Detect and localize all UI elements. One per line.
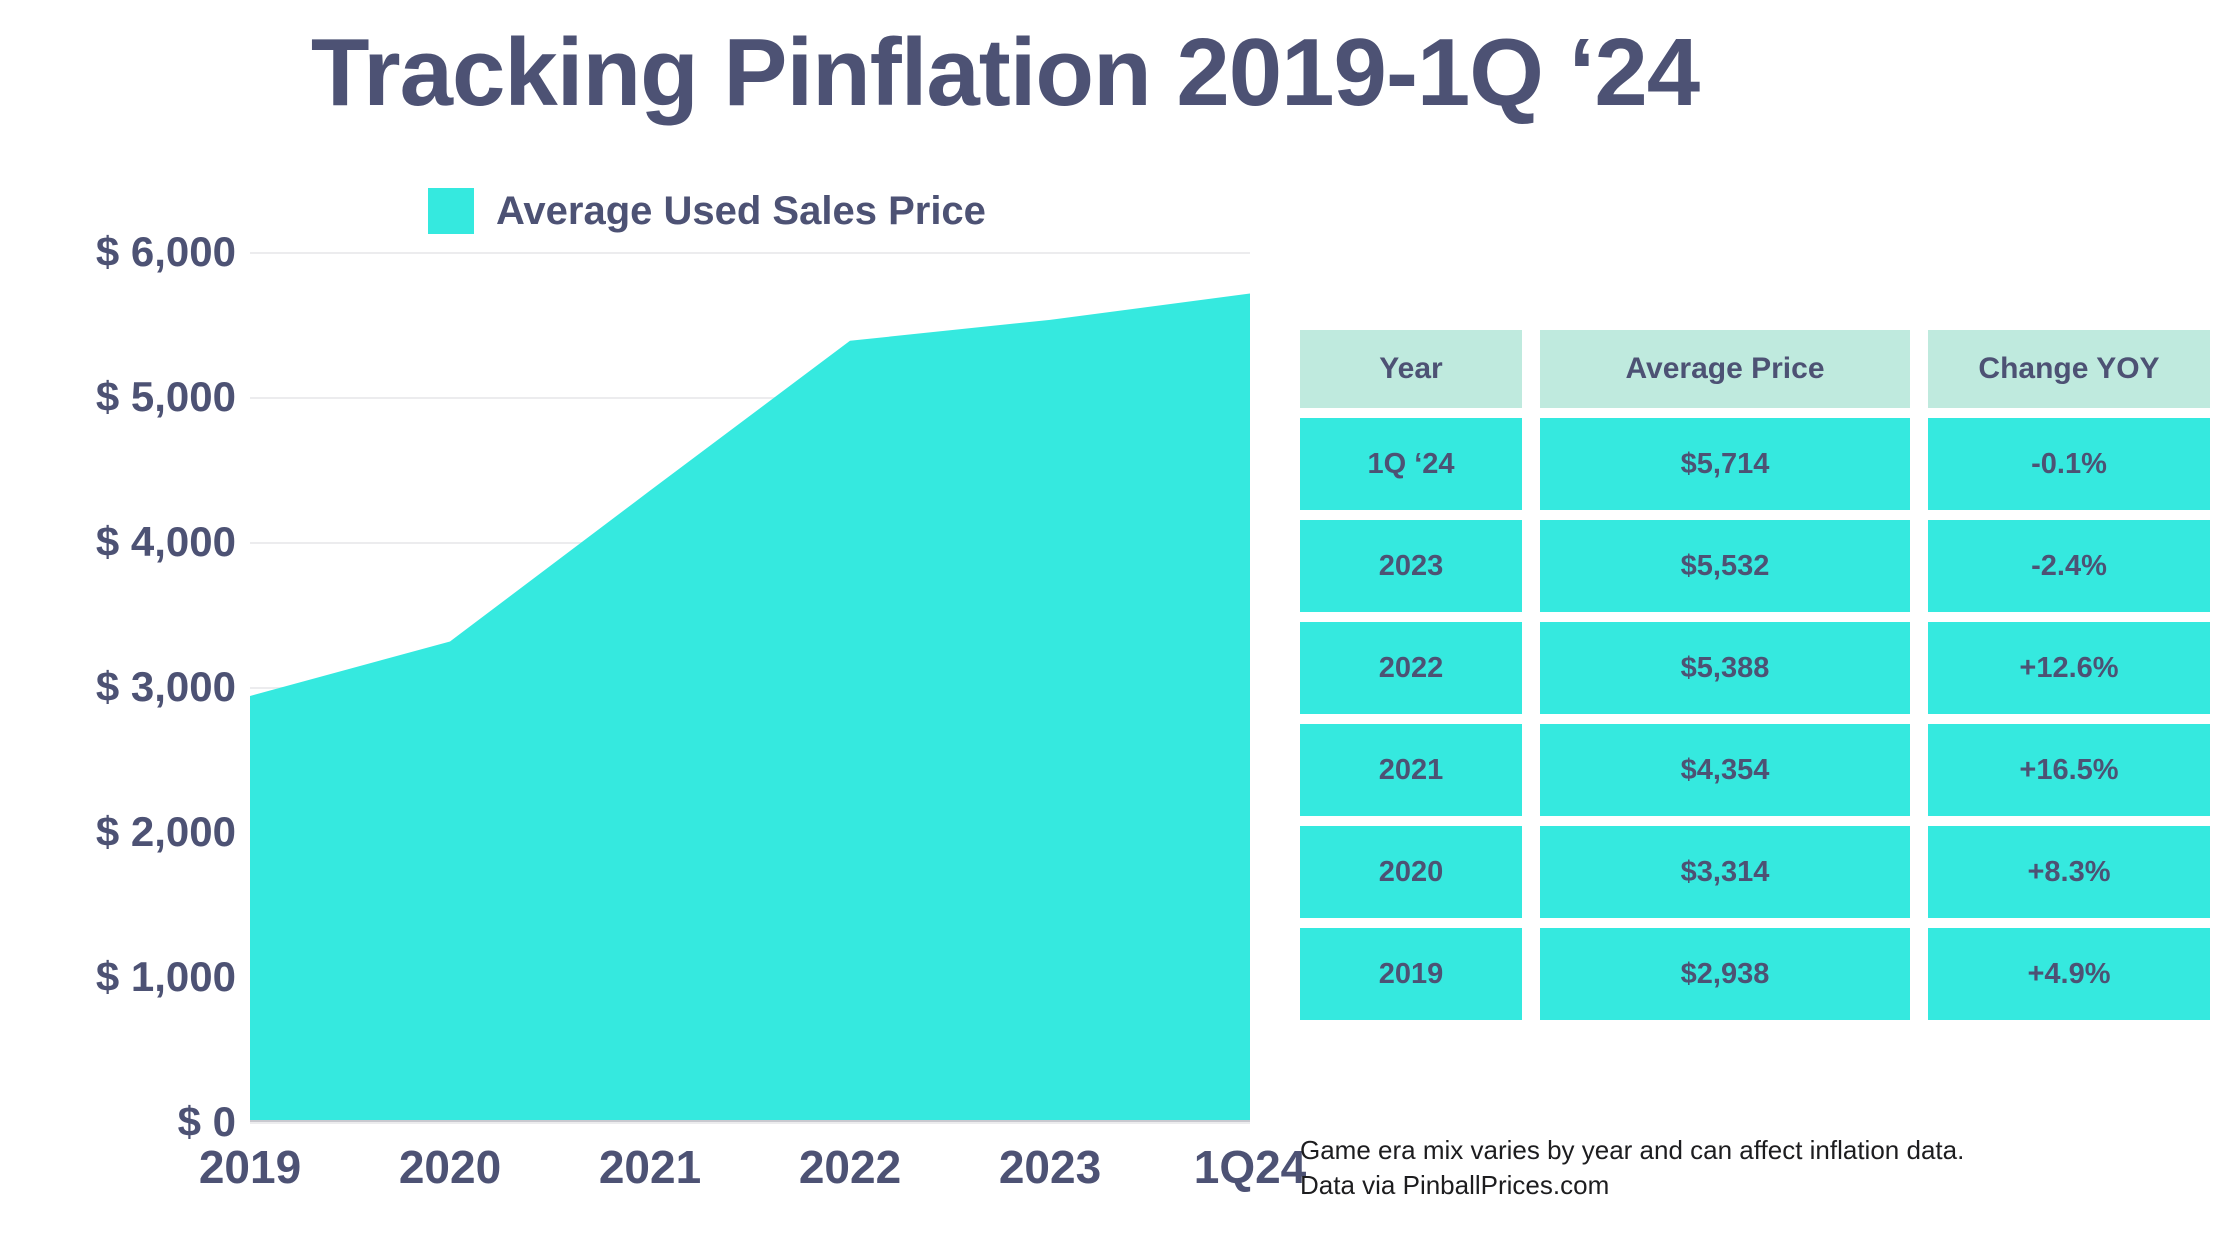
table-row: 2023$5,532-2.4%: [1300, 520, 2210, 612]
table-row: 1Q ‘24$5,714-0.1%: [1300, 418, 2210, 510]
table-header-row: Year Average Price Change YOY: [1300, 330, 2210, 408]
table-cell-price: $3,314: [1540, 826, 1910, 918]
y-axis-tick-label: $ 5,000: [6, 373, 236, 421]
x-axis-line: [250, 1120, 1250, 1122]
table-header-year: Year: [1300, 330, 1522, 408]
x-axis: 201920202021202220231Q24: [250, 1140, 1250, 1200]
gridline: [250, 1122, 1250, 1124]
table-body: 1Q ‘24$5,714-0.1%2023$5,532-2.4%2022$5,3…: [1300, 418, 2210, 1020]
table-cell-change: -2.4%: [1928, 520, 2210, 612]
y-axis-tick-label: $ 4,000: [6, 518, 236, 566]
table-cell-price: $5,532: [1540, 520, 1910, 612]
table-cell-year: 2022: [1300, 622, 1522, 714]
table-cell-change: +4.9%: [1928, 928, 2210, 1020]
table-row: 2021$4,354+16.5%: [1300, 724, 2210, 816]
table-cell-price: $5,388: [1540, 622, 1910, 714]
table-cell-change: +12.6%: [1928, 622, 2210, 714]
summary-table: Year Average Price Change YOY 1Q ‘24$5,7…: [1300, 330, 2210, 1030]
x-axis-tick-label: 2022: [799, 1140, 901, 1194]
y-axis-tick-label: $ 0: [6, 1098, 236, 1146]
table-cell-year: 2023: [1300, 520, 1522, 612]
table-cell-year: 2021: [1300, 724, 1522, 816]
table-cell-price: $2,938: [1540, 928, 1910, 1020]
table-cell-year: 2019: [1300, 928, 1522, 1020]
x-axis-tick-label: 2021: [599, 1140, 701, 1194]
table-header-change: Change YOY: [1928, 330, 2210, 408]
table-cell-change: +16.5%: [1928, 724, 2210, 816]
table-row: 2022$5,388+12.6%: [1300, 622, 2210, 714]
y-axis-tick-label: $ 1,000: [6, 953, 236, 1001]
footnote-line-2: Data via PinballPrices.com: [1300, 1168, 1964, 1203]
footnote-line-1: Game era mix varies by year and can affe…: [1300, 1133, 1964, 1168]
area-chart: $ 0$ 1,000$ 2,000$ 3,000$ 4,000$ 5,000$ …: [0, 0, 1290, 1260]
table-header-price: Average Price: [1540, 330, 1910, 408]
y-axis: $ 0$ 1,000$ 2,000$ 3,000$ 4,000$ 5,000$ …: [0, 252, 236, 1122]
x-axis-tick-label: 1Q24: [1194, 1140, 1307, 1194]
table-cell-year: 2020: [1300, 826, 1522, 918]
area-series-shape: [250, 252, 1250, 1122]
x-axis-tick-label: 2019: [199, 1140, 301, 1194]
x-axis-tick-label: 2023: [999, 1140, 1101, 1194]
table-cell-change: +8.3%: [1928, 826, 2210, 918]
plot-area: [250, 252, 1250, 1122]
y-axis-tick-label: $ 3,000: [6, 663, 236, 711]
table-row: 2019$2,938+4.9%: [1300, 928, 2210, 1020]
y-axis-tick-label: $ 2,000: [6, 808, 236, 856]
table-cell-change: -0.1%: [1928, 418, 2210, 510]
table-cell-year: 1Q ‘24: [1300, 418, 1522, 510]
table-row: 2020$3,314+8.3%: [1300, 826, 2210, 918]
table-cell-price: $4,354: [1540, 724, 1910, 816]
table-cell-price: $5,714: [1540, 418, 1910, 510]
footnote: Game era mix varies by year and can affe…: [1300, 1133, 1964, 1203]
y-axis-tick-label: $ 6,000: [6, 228, 236, 276]
x-axis-tick-label: 2020: [399, 1140, 501, 1194]
